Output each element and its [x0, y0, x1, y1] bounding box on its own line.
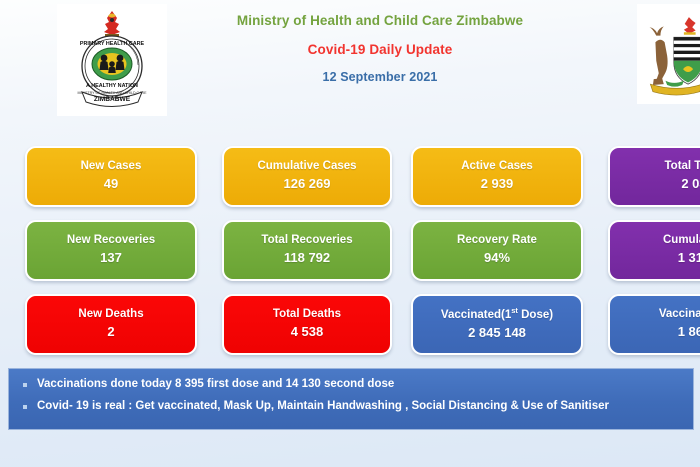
- stat-value: 1 863: [678, 324, 700, 340]
- stat-label: Vaccinated(2: [659, 308, 700, 321]
- stat-label: Active Cases: [461, 160, 533, 173]
- stat-value: 1 316: [678, 250, 700, 266]
- card-row-3: New Deaths 2 Total Deaths 4 538 Vaccinat…: [0, 294, 700, 368]
- stat-label: Total Tests: [665, 160, 700, 173]
- stat-value: 118 792: [284, 250, 330, 266]
- card-row-1: New Cases 49 Cumulative Cases 126 269 Ac…: [0, 146, 700, 220]
- footer-note: Vaccinations done today 8 395 first dose…: [19, 377, 689, 393]
- card-row-2: New Recoveries 137 Total Recoveries 118 …: [0, 220, 700, 294]
- organisation-name: Ministry of Health and Child Care Zimbab…: [170, 14, 590, 29]
- primary-health-care-zimbabwe-emblem: PRIMARY HEALTH CARE A HEALTHY NATION MIN…: [57, 4, 167, 116]
- stat-label: Vaccinated(1st Dose): [441, 307, 553, 322]
- footer-notes-banner: Vaccinations done today 8 395 first dose…: [8, 368, 694, 430]
- header-text-block: Ministry of Health and Child Care Zimbab…: [170, 14, 590, 84]
- stat-value: 2 939: [481, 176, 514, 192]
- footer-note-text: Vaccinations done today 8 395 first dose…: [37, 377, 394, 393]
- stat-value: 2 845 148: [468, 325, 526, 341]
- stat-card-new-cases: New Cases 49: [25, 146, 197, 207]
- stat-card-total-recoveries: Total Recoveries 118 792: [222, 220, 392, 281]
- statistics-card-grid: New Cases 49 Cumulative Cases 126 269 Ac…: [0, 146, 700, 368]
- bullet-icon: [23, 405, 27, 409]
- stat-label: Cumulative: [663, 234, 700, 247]
- stat-card-cumulative-cases: Cumulative Cases 126 269: [222, 146, 392, 207]
- stat-card-recovery-rate: Recovery Rate 94%: [411, 220, 583, 281]
- stat-value: 2 03: [681, 176, 700, 192]
- page-title: Covid-19 Daily Update: [170, 42, 590, 57]
- stat-label: Total Recoveries: [261, 234, 352, 247]
- stat-card-total-tests: Total Tests 2 03: [608, 146, 700, 207]
- stat-card-vaccinated-second-dose: Vaccinated(2 1 863: [608, 294, 700, 355]
- stat-card-vaccinated-first-dose: Vaccinated(1st Dose) 2 845 148: [411, 294, 583, 355]
- footer-note: Covid- 19 is real : Get vaccinated, Mask…: [19, 399, 689, 415]
- stat-value: 94%: [484, 250, 510, 266]
- stat-label: Cumulative Cases: [257, 160, 356, 173]
- svg-text:A HEALTHY NATION: A HEALTHY NATION: [86, 83, 138, 89]
- bullet-icon: [23, 383, 27, 387]
- stat-value: 137: [100, 250, 122, 266]
- stat-value: 126 269: [284, 176, 331, 192]
- stat-card-active-cases: Active Cases 2 939: [411, 146, 583, 207]
- stat-label: Recovery Rate: [457, 234, 537, 247]
- stat-value: 2: [107, 324, 114, 340]
- report-header: PRIMARY HEALTH CARE A HEALTHY NATION MIN…: [0, 0, 700, 122]
- stat-label: New Recoveries: [67, 234, 155, 247]
- svg-text:PRIMARY HEALTH CARE: PRIMARY HEALTH CARE: [80, 41, 145, 47]
- stat-label: Total Deaths: [273, 308, 341, 321]
- report-date: 12 September 2021: [170, 70, 590, 84]
- stat-card-new-recoveries: New Recoveries 137: [25, 220, 197, 281]
- stat-label: New Deaths: [78, 308, 143, 321]
- footer-note-text: Covid- 19 is real : Get vaccinated, Mask…: [37, 399, 609, 415]
- stat-card-new-deaths: New Deaths 2: [25, 294, 197, 355]
- zimbabwe-coat-of-arms: [637, 4, 700, 104]
- stat-card-total-deaths: Total Deaths 4 538: [222, 294, 392, 355]
- stat-card-cumulative-tests: Cumulative 1 316: [608, 220, 700, 281]
- stat-label: New Cases: [81, 160, 142, 173]
- stat-value: 49: [104, 176, 118, 192]
- stat-value: 4 538: [291, 324, 324, 340]
- svg-text:ZIMBABWE: ZIMBABWE: [94, 96, 131, 103]
